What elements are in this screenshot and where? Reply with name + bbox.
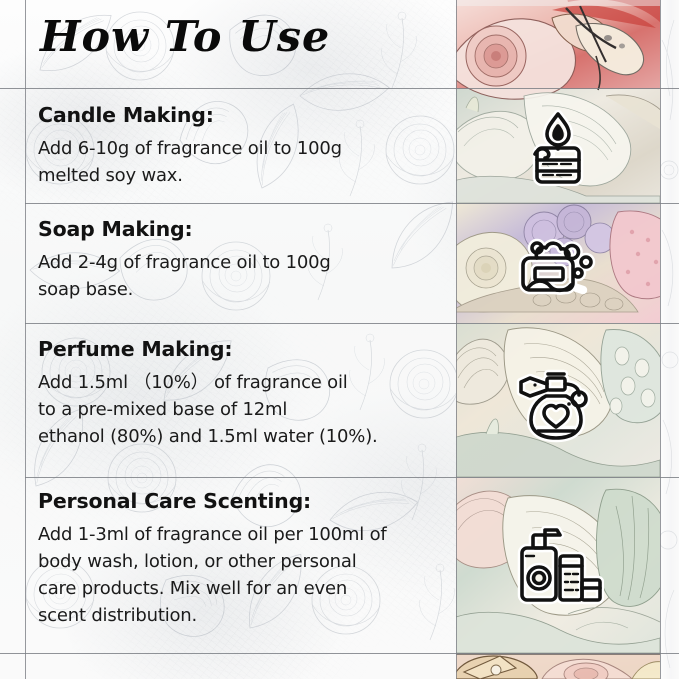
perfume-bottle-icon xyxy=(512,360,604,444)
body-line: Add 6-10g of fragrance oil to 100g xyxy=(38,135,438,162)
icon-slot-personal-care xyxy=(456,520,660,610)
personal-care-products-icon xyxy=(512,520,604,610)
body-line: ethanol (80%) and 1.5ml water (10%). xyxy=(38,423,438,450)
body-line: to a pre-mixed base of 12ml xyxy=(38,396,438,423)
section-heading-perfume: Perfume Making: xyxy=(38,337,438,361)
section-heading-personal-care: Personal Care Scenting: xyxy=(38,489,448,513)
candle-icon xyxy=(521,108,595,186)
section-body-soap: Add 2-4g of fragrance oil to 100g soap b… xyxy=(38,249,438,303)
how-to-use-infographic: How To Use Candle Making: Add 6-10g of f… xyxy=(0,0,679,679)
right-rule xyxy=(660,0,661,679)
section-body-personal-care: Add 1-3ml of fragrance oil per 100ml of … xyxy=(38,521,448,629)
soap-bar-icon xyxy=(515,226,601,302)
body-line: Add 1-3ml of fragrance oil per 100ml of xyxy=(38,521,448,548)
icon-slot-perfume xyxy=(456,360,660,444)
divider-candle-soap xyxy=(25,203,679,204)
divider-perfume-care xyxy=(25,477,679,478)
right-margin-strip xyxy=(660,0,679,679)
body-line: body wash, lotion, or other personal xyxy=(38,548,448,575)
divider-bottom xyxy=(0,653,679,654)
body-line: scent distribution. xyxy=(38,602,448,629)
page-title: How To Use xyxy=(40,12,330,61)
icon-slot-soap xyxy=(456,226,660,302)
body-line: melted soy wax. xyxy=(38,162,438,189)
body-line: soap base. xyxy=(38,276,438,303)
body-line: care products. Mix well for an even xyxy=(38,575,448,602)
section-candle-making: Candle Making: Add 6-10g of fragrance oi… xyxy=(38,103,438,189)
divider-top xyxy=(0,88,679,89)
divider-soap-perfume xyxy=(25,323,679,324)
section-heading-soap: Soap Making: xyxy=(38,217,438,241)
body-line: Add 2-4g of fragrance oil to 100g xyxy=(38,249,438,276)
section-body-perfume: Add 1.5ml （10%） of fragrance oil to a pr… xyxy=(38,369,438,450)
section-body-candle: Add 6-10g of fragrance oil to 100g melte… xyxy=(38,135,438,189)
left-rule xyxy=(25,0,26,679)
section-perfume-making: Perfume Making: Add 1.5ml （10%） of fragr… xyxy=(38,337,438,450)
section-heading-candle: Candle Making: xyxy=(38,103,438,127)
section-personal-care-scenting: Personal Care Scenting: Add 1-3ml of fra… xyxy=(38,489,448,629)
section-soap-making: Soap Making: Add 2-4g of fragrance oil t… xyxy=(38,217,438,303)
icon-slot-candle xyxy=(456,108,660,186)
body-line: Add 1.5ml （10%） of fragrance oil xyxy=(38,369,438,396)
